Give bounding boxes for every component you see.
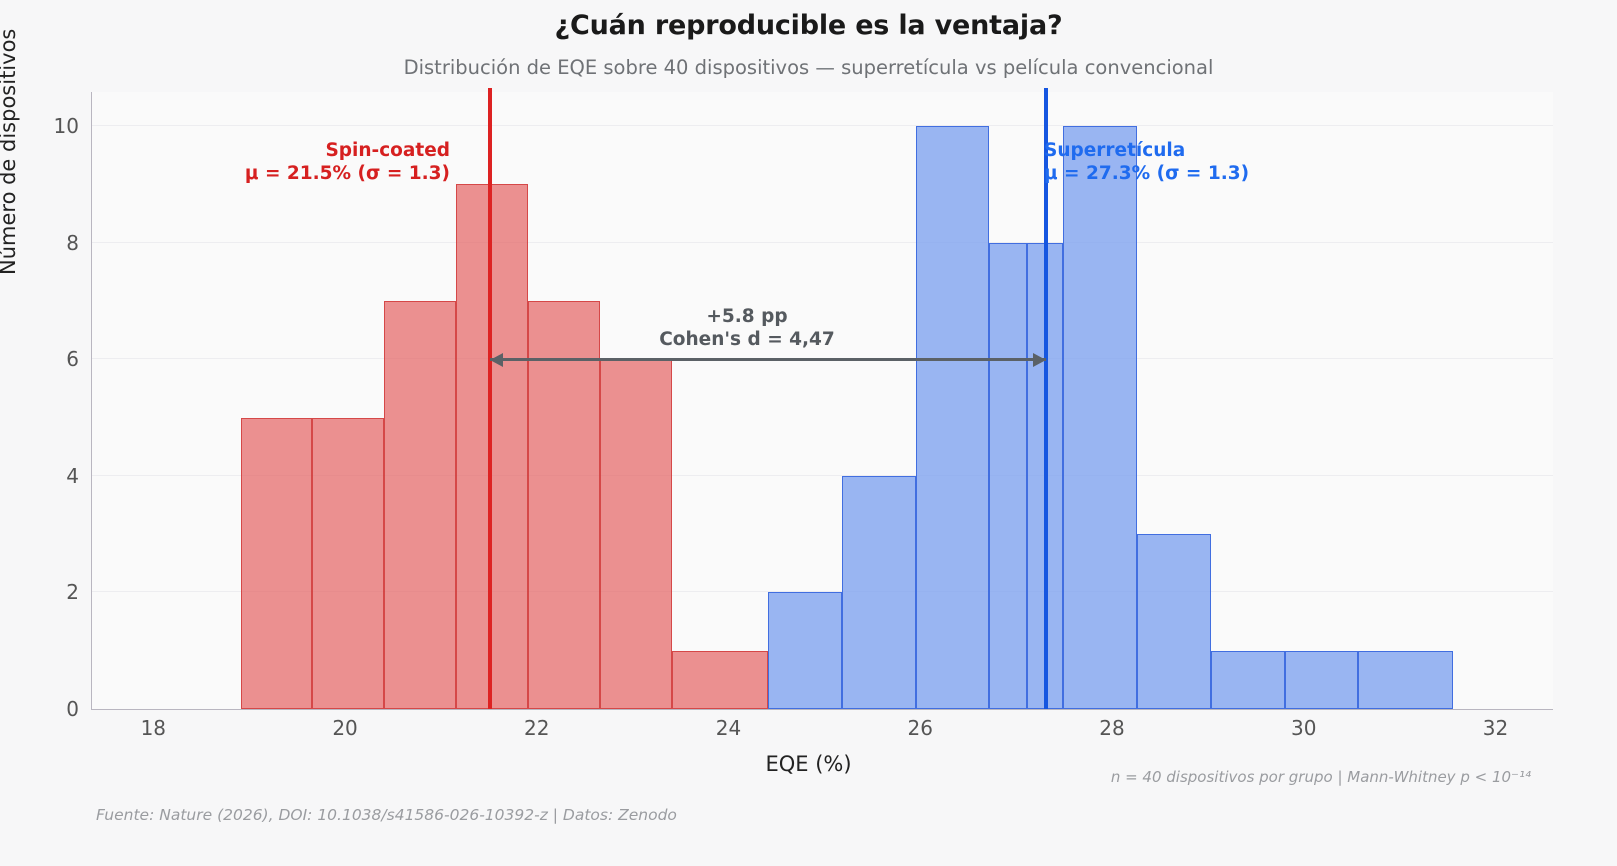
histogram-bar <box>916 126 990 709</box>
histogram-bar <box>456 184 528 709</box>
gridline <box>92 125 1553 126</box>
histogram-bar <box>1063 126 1137 709</box>
y-axis-tick-label: 6 <box>19 347 79 371</box>
chart-subtitle: Distribución de EQE sobre 40 dispositivo… <box>0 56 1617 79</box>
x-axis-tick-label: 24 <box>689 716 769 740</box>
delta-arrow-line <box>490 358 1046 361</box>
chart-figure: ¿Cuán reproducible es la ventaja? Distri… <box>0 0 1617 866</box>
histogram-bar <box>989 243 1026 709</box>
gridline <box>92 242 1553 243</box>
source-note: Fuente: Nature (2026), DOI: 10.1038/s415… <box>96 806 677 824</box>
delta-arrow-head-left <box>490 353 503 367</box>
chart-title: ¿Cuán reproducible es la ventaja? <box>0 10 1617 41</box>
mean-line-spin-coated <box>488 88 492 709</box>
y-axis-tick-label: 8 <box>19 231 79 255</box>
y-axis-label: Número de dispositivos <box>0 29 20 275</box>
y-axis-tick-label: 2 <box>19 580 79 604</box>
histogram-bar <box>241 418 313 710</box>
y-axis-tick-label: 4 <box>19 464 79 488</box>
histogram-bar <box>672 651 768 709</box>
x-axis-tick-label: 20 <box>305 716 385 740</box>
y-axis-tick-label: 0 <box>19 697 79 721</box>
histogram-bar <box>768 592 842 709</box>
x-axis-tick-label: 30 <box>1264 716 1344 740</box>
x-axis-label: EQE (%) <box>0 752 1617 776</box>
histogram-bar <box>1358 651 1453 709</box>
histogram-bar <box>1137 534 1211 709</box>
histogram-bar <box>528 301 600 709</box>
x-axis-tick-label: 18 <box>113 716 193 740</box>
x-axis-tick-label: 32 <box>1455 716 1535 740</box>
annotation-spin-coated: Spin-coated μ = 21.5% (σ = 1.3) <box>150 140 450 185</box>
histogram-bar <box>384 301 456 709</box>
histogram-bar <box>312 418 384 710</box>
histogram-bar <box>842 476 916 709</box>
x-axis-tick-label: 22 <box>497 716 577 740</box>
y-axis-tick-label: 10 <box>19 114 79 138</box>
histogram-bar <box>1211 651 1285 709</box>
histogram-bar <box>1285 651 1359 709</box>
annotation-delta: +5.8 pp Cohen's d = 4,47 <box>617 306 877 351</box>
delta-arrow-head-right <box>1033 353 1046 367</box>
histogram-bar <box>600 359 672 709</box>
x-axis-tick-label: 26 <box>880 716 960 740</box>
annotation-superlattice: Superretícula μ = 27.3% (σ = 1.3) <box>1044 140 1364 185</box>
x-axis-tick-label: 28 <box>1072 716 1152 740</box>
